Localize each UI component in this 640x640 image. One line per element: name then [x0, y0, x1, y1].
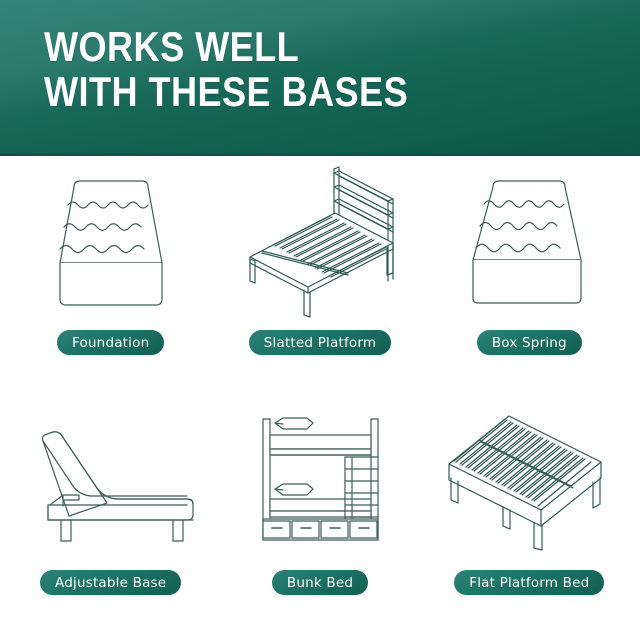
- base-label-box-spring: Box Spring: [477, 330, 582, 355]
- base-label-bunk-bed: Bunk Bed: [272, 570, 368, 595]
- slatted-platform-bed-icon: [215, 160, 424, 326]
- base-label-flat-platform-bed: Flat Platform Bed: [454, 570, 604, 595]
- page-title: WORKS WELL WITH THESE BASES: [44, 24, 408, 114]
- flat-platform-bed-icon: [425, 396, 634, 568]
- base-card-flat-platform-bed[interactable]: Flat Platform Bed: [425, 396, 634, 632]
- base-card-box-spring[interactable]: Box Spring: [425, 160, 634, 396]
- base-card-slatted-platform[interactable]: Slatted Platform: [215, 160, 424, 396]
- box-spring-icon: [425, 160, 634, 326]
- header-banner: WORKS WELL WITH THESE BASES: [0, 0, 640, 156]
- base-label-foundation: Foundation: [57, 330, 164, 355]
- mattress-foundation-icon: [6, 160, 215, 326]
- base-card-bunk-bed[interactable]: Bunk Bed: [215, 396, 424, 632]
- adjustable-base-icon: [6, 396, 215, 568]
- bunk-bed-icon: [215, 396, 424, 568]
- base-label-slatted-platform: Slatted Platform: [249, 330, 391, 355]
- base-label-adjustable-base: Adjustable Base: [40, 570, 181, 595]
- base-card-foundation[interactable]: Foundation: [6, 160, 215, 396]
- base-card-adjustable-base[interactable]: Adjustable Base: [6, 396, 215, 632]
- bases-grid: Foundation: [0, 156, 640, 640]
